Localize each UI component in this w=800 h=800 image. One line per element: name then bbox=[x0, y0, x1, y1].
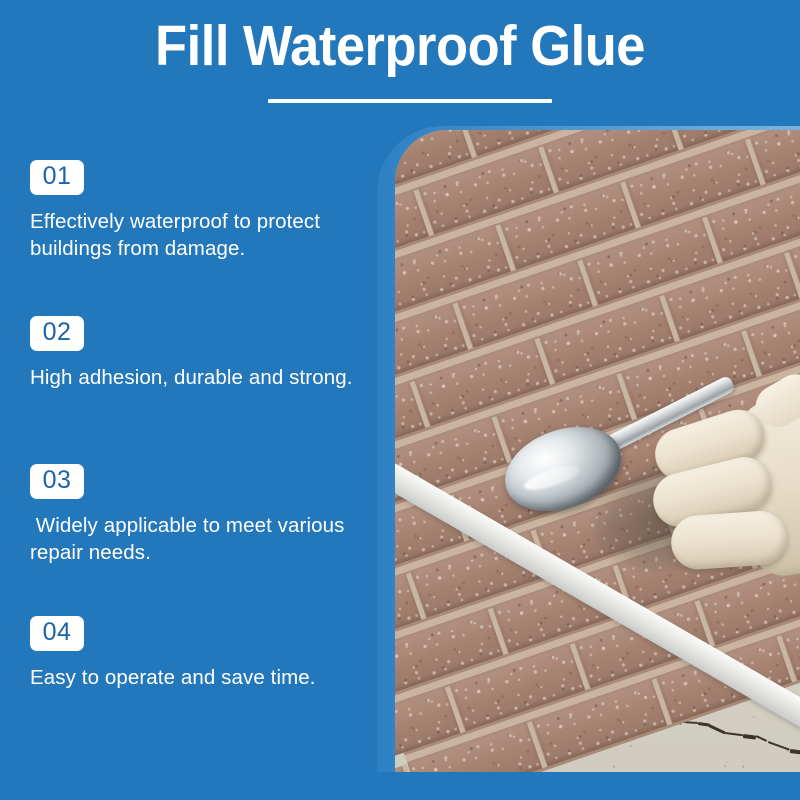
concrete-crack-segment bbox=[708, 724, 725, 734]
concrete-speck bbox=[725, 762, 727, 764]
feature-item-03: 03 Widely applicable to meet various rep… bbox=[30, 464, 380, 566]
concrete-crack-segment bbox=[756, 736, 768, 743]
glove-finger bbox=[669, 509, 788, 571]
concrete-crack-segment bbox=[767, 741, 790, 751]
feature-number-badge: 01 bbox=[30, 160, 84, 195]
product-photo-panel bbox=[377, 126, 800, 772]
title-divider-rule bbox=[268, 99, 552, 103]
product-photo bbox=[395, 130, 800, 772]
concrete-crack-segment bbox=[789, 749, 800, 756]
feature-description: High adhesion, durable and strong. bbox=[30, 364, 370, 391]
feature-item-01: 01 Effectively waterproof to protect bui… bbox=[30, 160, 380, 262]
page-title: Fill Waterproof Glue bbox=[32, 14, 768, 78]
feature-number-badge: 04 bbox=[30, 616, 84, 651]
concrete-speck bbox=[730, 746, 731, 747]
concrete-speck bbox=[753, 716, 755, 718]
concrete-speck bbox=[786, 750, 787, 751]
concrete-crack-segment bbox=[697, 722, 709, 727]
feature-number-badge: 03 bbox=[30, 464, 84, 499]
concrete-speck bbox=[781, 748, 782, 749]
feature-item-02: 02 High adhesion, durable and strong. bbox=[30, 316, 380, 391]
feature-description: Widely applicable to meet various repair… bbox=[30, 512, 370, 566]
concrete-speck bbox=[742, 765, 744, 767]
concrete-crack-segment bbox=[725, 732, 743, 736]
feature-description: Effectively waterproof to protect buildi… bbox=[30, 208, 370, 262]
feature-description: Easy to operate and save time. bbox=[30, 664, 370, 691]
poster-header: Fill Waterproof Glue bbox=[0, 0, 800, 120]
concrete-speck bbox=[613, 765, 616, 768]
gloved-hand bbox=[635, 395, 800, 598]
photo-bottom-strip bbox=[377, 772, 800, 800]
concrete-speck bbox=[724, 765, 726, 767]
photo-scene bbox=[395, 130, 800, 772]
concrete-speck bbox=[629, 745, 631, 747]
feature-number-badge: 02 bbox=[30, 316, 84, 351]
product-infographic-poster: Fill Waterproof Glue 01 Effectively wate… bbox=[0, 0, 800, 800]
feature-item-04: 04 Easy to operate and save time. bbox=[30, 616, 380, 691]
